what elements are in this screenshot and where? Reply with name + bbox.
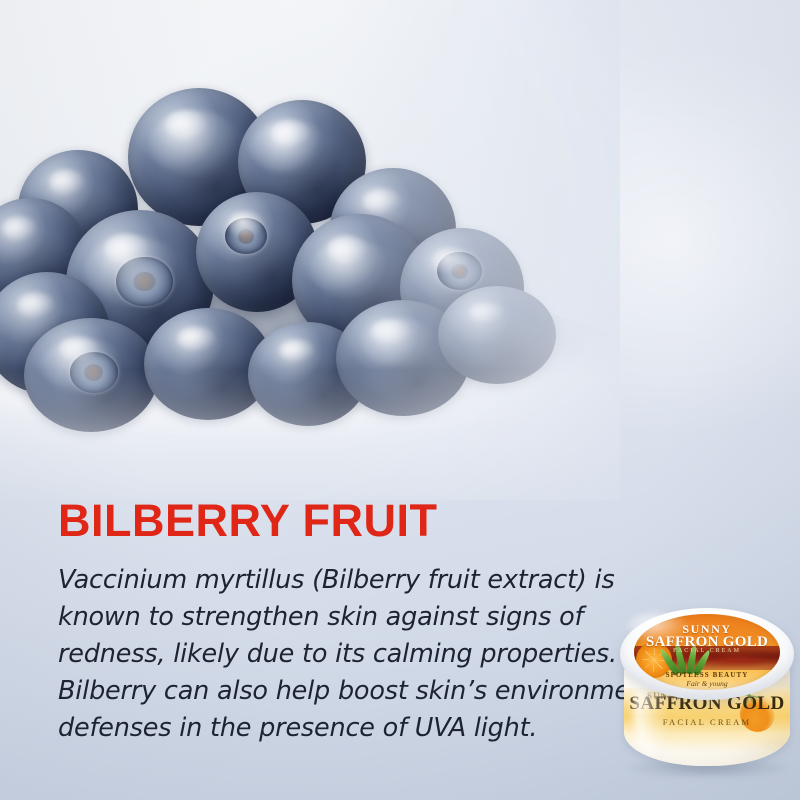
blueberry-calyx (437, 252, 482, 290)
description-paragraph: Vaccinium myrtillus (Bilberry fruit extr… (58, 562, 638, 747)
blueberry-calyx (116, 257, 172, 307)
blueberry-cluster (0, 0, 620, 500)
jar-lid-tagline-2: Fair & young (634, 679, 780, 688)
page-title: BILBERRY FRUIT (58, 498, 438, 543)
blueberry (24, 318, 158, 432)
blueberry-calyx (70, 352, 118, 393)
blueberry (438, 286, 556, 384)
jar-lid-tagline-1: SPOTLESS BEAUTY (634, 671, 780, 679)
description-line-2: known to strengthen skin against signs o… (58, 599, 638, 636)
jar-lid-label: SUNNY SAFFRON GOLD FACIAL CREAM SPOTLESS… (634, 614, 780, 690)
description-line-1: Vaccinium myrtillus (Bilberry fruit extr… (58, 562, 638, 599)
description-line-3: redness, likely due to its calming prope… (58, 636, 638, 673)
description-line-4: Bilberry can also help boost skin’s envi… (58, 673, 638, 710)
blueberry-photo (0, 0, 620, 500)
product-jar: SUNNY SAFFRON GOLD FACIAL CREAM SUNNY SA… (620, 608, 794, 774)
description-line-5: defenses in the presence of UVA light. (58, 710, 638, 747)
jar-lid-subtitle: FACIAL CREAM (634, 648, 780, 654)
jar-lid: SUNNY SAFFRON GOLD FACIAL CREAM SPOTLESS… (620, 608, 794, 700)
blueberry-calyx (225, 218, 266, 254)
bilberry-fruit-poster: BILBERRY FRUIT BILBERRY FRUIT Vaccinium … (0, 0, 800, 800)
